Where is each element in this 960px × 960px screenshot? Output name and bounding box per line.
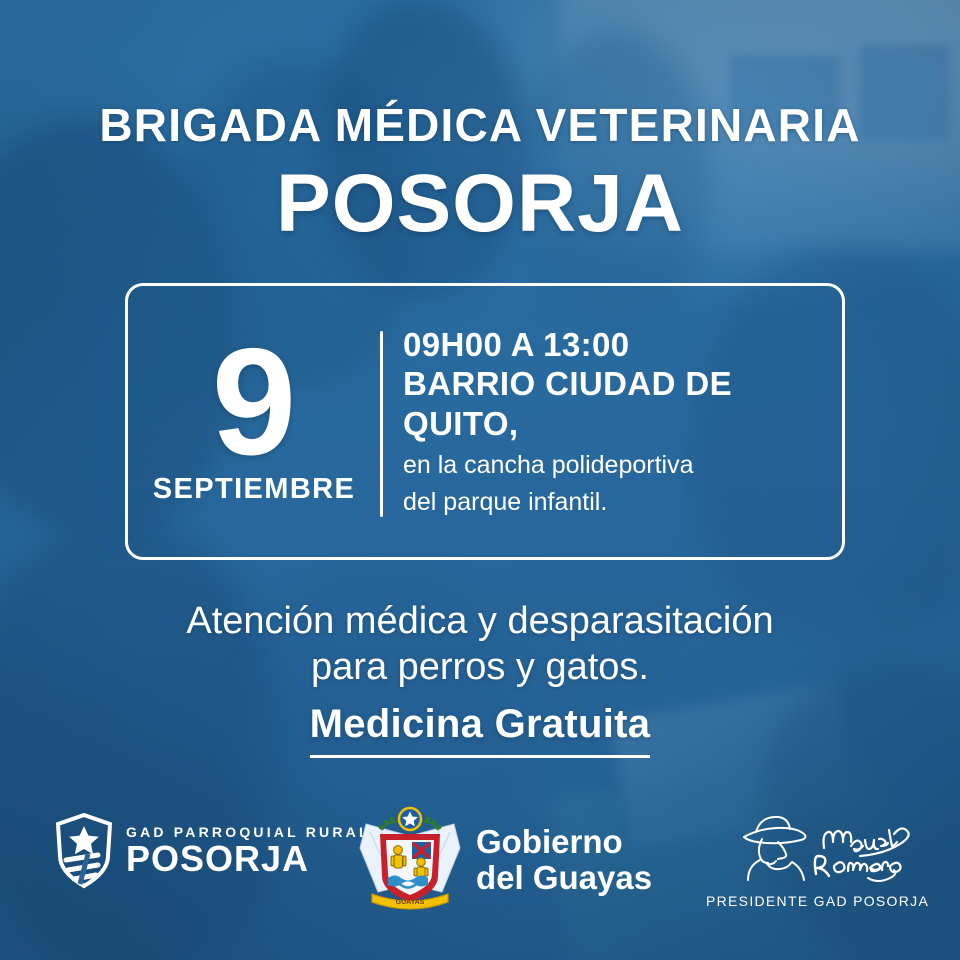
guayas-line-2: del Guayas: [476, 860, 652, 896]
posorja-kicker: GAD PARROQUIAL RURAL: [126, 825, 371, 839]
posorja-name: POSORJA: [126, 841, 371, 877]
event-time: 09H00 A 13:00: [403, 325, 826, 364]
posorja-wordmark: GAD PARROQUIAL RURAL POSORJA: [126, 825, 371, 877]
logo-gad-posorja: GAD PARROQUIAL RURAL POSORJA: [52, 812, 371, 890]
service-description: Atención médica y desparasitación para p…: [0, 598, 960, 691]
event-detail-line-1: en la cancha polideportiva: [403, 451, 826, 481]
posorja-shield-icon: [52, 812, 116, 890]
event-info-box: 9 SEPTIEMBRE 09H00 A 13:00 BARRIO CIUDAD…: [125, 283, 845, 560]
poster-content: BRIGADA MÉDICA VETERINARIA POSORJA 9 SEP…: [0, 0, 960, 960]
president-caption: PRESIDENTE GAD POSORJA: [706, 893, 929, 909]
free-medicine-label: Medicina Gratuita: [310, 702, 651, 758]
poster-canvas: BRIGADA MÉDICA VETERINARIA POSORJA 9 SEP…: [0, 0, 960, 960]
event-detail-column: 09H00 A 13:00 BARRIO CIUDAD DE QUITO, en…: [383, 286, 842, 557]
guayas-line-1: Gobierno: [476, 824, 652, 860]
service-description-line-1: Atención médica y desparasitación: [0, 598, 960, 644]
event-place-line-1: BARRIO CIUDAD DE: [403, 364, 826, 403]
poster-subtitle: BRIGADA MÉDICA VETERINARIA: [0, 102, 960, 148]
manuel-romero-signature-icon: [718, 808, 918, 886]
logo-gobierno-guayas: GUAYAS Gobierno del Guayas: [358, 806, 652, 914]
event-date-column: 9 SEPTIEMBRE: [128, 286, 380, 557]
guayas-banner-text: GUAYAS: [396, 899, 425, 906]
event-month: SEPTIEMBRE: [153, 473, 356, 506]
poster-title: POSORJA: [0, 163, 960, 245]
event-detail-line-2: del parque infantil.: [403, 488, 826, 518]
logo-president: PRESIDENTE GAD POSORJA: [706, 808, 929, 909]
event-place-line-2: QUITO,: [403, 404, 826, 443]
free-medicine-wrap: Medicina Gratuita: [0, 702, 960, 758]
guayas-wordmark: Gobierno del Guayas: [476, 824, 652, 897]
event-day: 9: [212, 337, 297, 468]
guayas-coat-of-arms-icon: GUAYAS: [358, 806, 462, 914]
footer-logos: GAD PARROQUIAL RURAL POSORJA: [0, 800, 960, 920]
service-description-line-2: para perros y gatos.: [0, 644, 960, 690]
